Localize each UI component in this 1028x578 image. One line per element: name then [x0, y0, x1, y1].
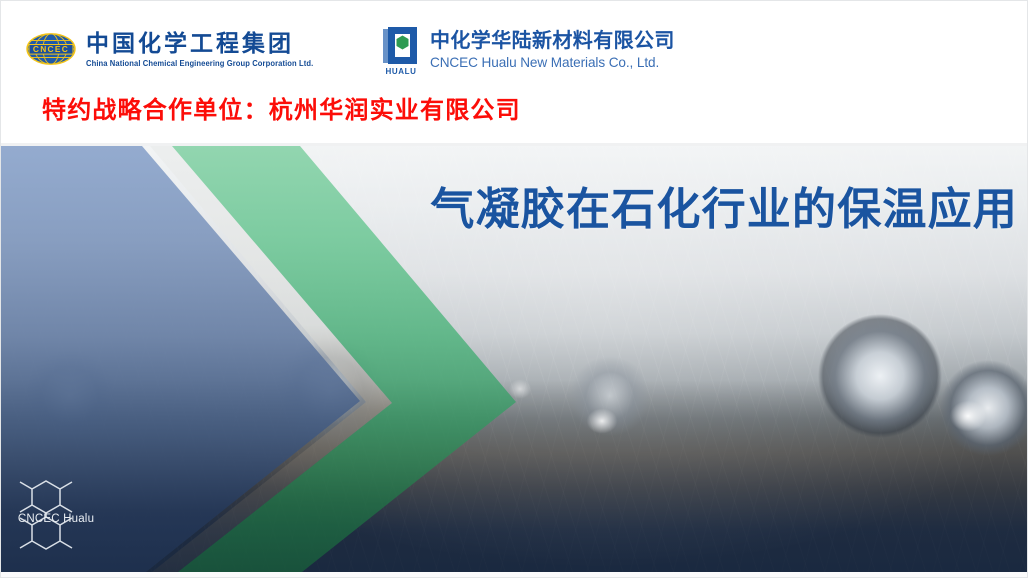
hero-banner: 气凝胶在石化行业的保温应用 CNCEC Hualu: [0, 146, 1028, 572]
page-title: 气凝胶在石化行业的保温应用: [430, 182, 1018, 238]
partner-line: 特约战略合作单位：杭州华润实业有限公司: [42, 95, 521, 127]
footer-strip: [0, 572, 1028, 578]
hualu-name-en: CNCEC Hualu New Materials Co., Ltd.: [430, 55, 659, 71]
logo-row: CNCEC 中国化学工程集团 China National Chemical E…: [0, 26, 1028, 78]
hualu-mark-text: HUALU: [380, 67, 422, 76]
hualu-bracket-icon: HUALU: [380, 26, 422, 76]
hexagon-molecule-watermark: CNCEC Hualu: [8, 476, 104, 562]
slide-header: CNCEC 中国化学工程集团 China National Chemical E…: [0, 0, 1028, 146]
cncec-globe-icon: CNCEC: [25, 33, 77, 67]
cncec-logo-text: 中国化学工程集团 China National Chemical Enginee…: [86, 30, 313, 68]
hualu-company-logo: HUALU 中化学华陆新材料有限公司 CNCEC Hualu New Mater…: [380, 26, 675, 76]
cncec-name-cn: 中国化学工程集团: [86, 30, 294, 56]
cncec-group-logo: CNCEC 中国化学工程集团 China National Chemical E…: [25, 30, 313, 68]
hualu-name-cn: 中化学华陆新材料有限公司: [430, 30, 675, 53]
hualu-logo-text: 中化学华陆新材料有限公司 CNCEC Hualu New Materials C…: [430, 30, 675, 71]
cncec-mark-text: CNCEC: [33, 44, 69, 54]
slide-canvas: CNCEC 中国化学工程集团 China National Chemical E…: [0, 0, 1028, 578]
watermark-label: CNCEC Hualu: [8, 512, 104, 526]
cncec-name-en: China National Chemical Engineering Grou…: [86, 57, 313, 69]
header-divider: [0, 143, 1028, 146]
